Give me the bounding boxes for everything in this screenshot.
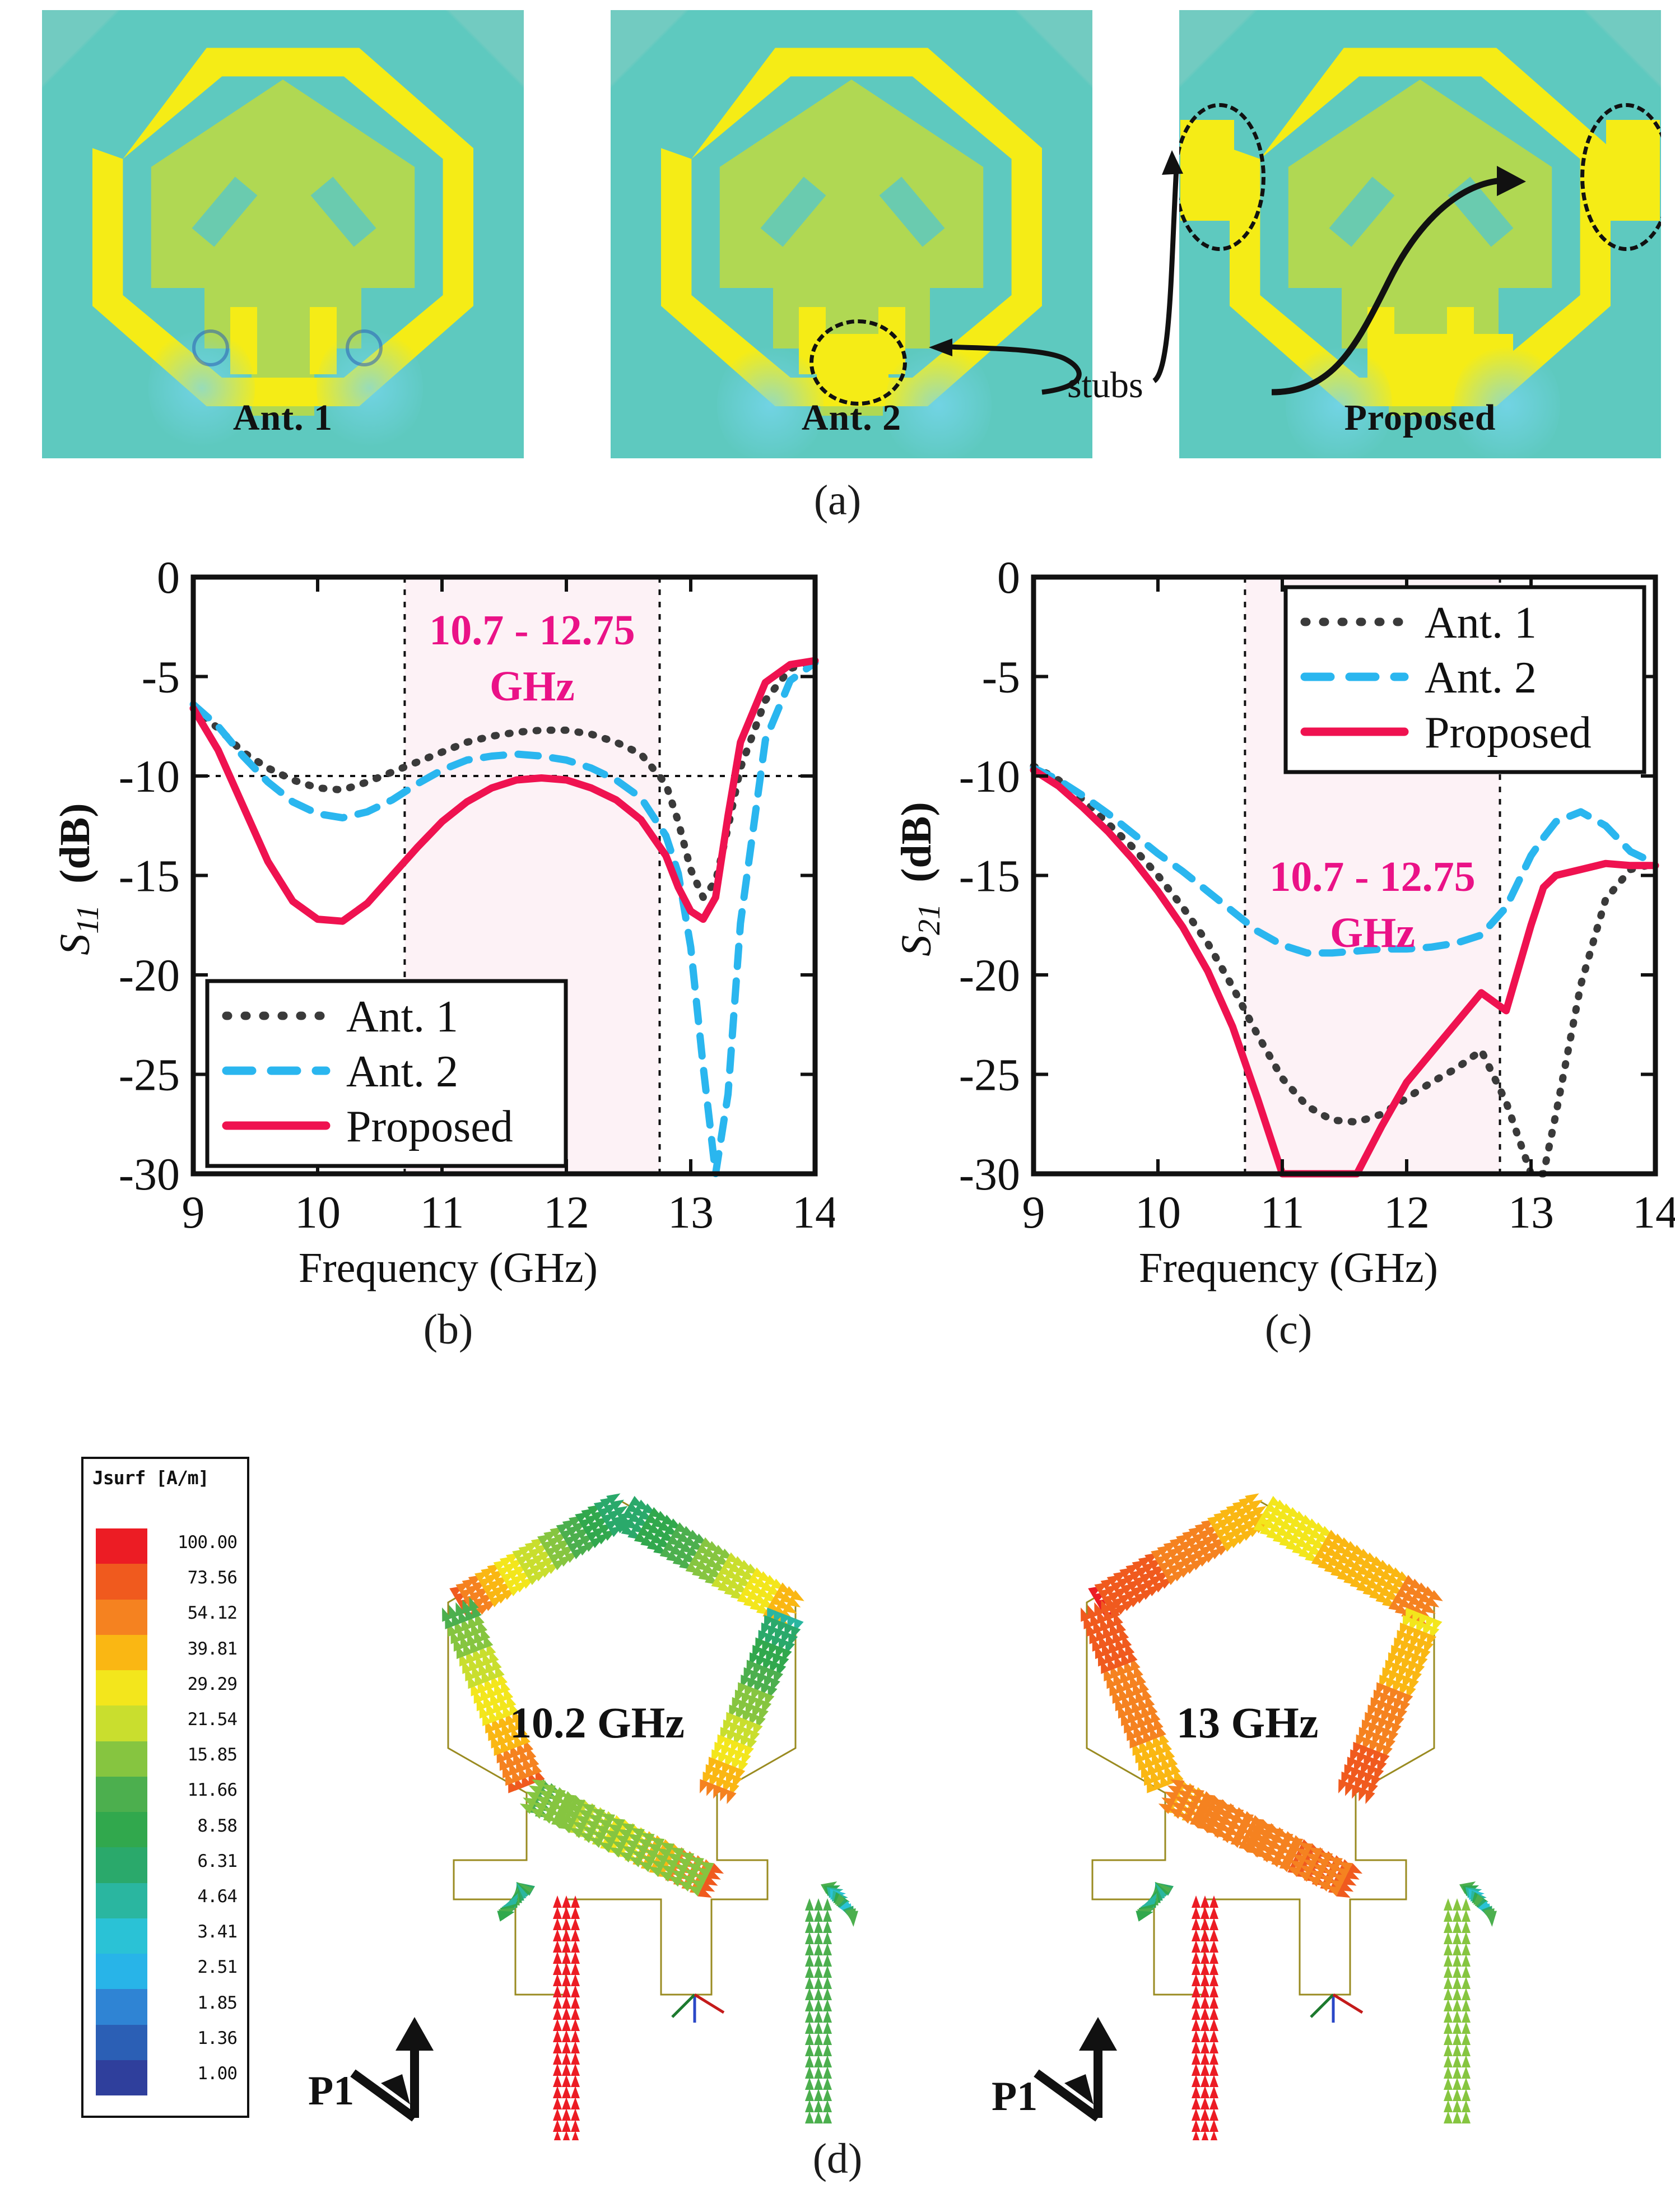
current-arrow-feed-left bbox=[562, 1996, 571, 2009]
current-arrow-feed-left bbox=[562, 1895, 571, 1908]
current-arrow-feed-right bbox=[1462, 2111, 1471, 2123]
colorbar-band-6 bbox=[96, 1741, 147, 1777]
y-tick-label: 0 bbox=[997, 555, 1020, 603]
current-arrow-feed-left bbox=[553, 2131, 562, 2140]
figure-root: Ant. 1 Ant. 2 bbox=[0, 0, 1675, 2212]
current-arrow-feed-left bbox=[571, 1985, 580, 1997]
colorbar-band-9 bbox=[96, 1847, 147, 1883]
via-left bbox=[192, 329, 229, 366]
current-arrow-feed-left bbox=[1209, 2041, 1218, 2053]
colorbar-band-1 bbox=[96, 1564, 147, 1599]
current-arrow-feed-left bbox=[1201, 2007, 1209, 2020]
current-arrow-feed-left bbox=[1192, 2086, 1201, 2098]
current-arrow-feed-right bbox=[1444, 1988, 1453, 2000]
current-arrow-feed-left bbox=[1192, 2052, 1201, 2065]
x-axis-title-s21: Frequency (GHz) bbox=[980, 1244, 1597, 1293]
jsurf-arrow-field bbox=[1076, 1489, 1498, 2140]
colorbar-value: 15.85 bbox=[178, 1737, 237, 1773]
current-arrow-feed-right bbox=[1462, 2089, 1471, 2101]
legend-label-1: Ant. 2 bbox=[346, 1047, 458, 1096]
current-arrow-feed-left bbox=[1201, 2019, 1209, 2031]
current-arrow-feed-right bbox=[1453, 1965, 1462, 1978]
y-tick-label: -5 bbox=[982, 652, 1020, 703]
current-arrow-feed-left bbox=[553, 1951, 562, 1964]
current-arrow-feed-left bbox=[571, 2007, 580, 2020]
stub-highlight-circle bbox=[809, 319, 907, 406]
antenna-label-proposed: Proposed bbox=[1179, 397, 1661, 439]
current-arrow-feed-left bbox=[562, 1907, 571, 1919]
current-arrow-feed-right bbox=[814, 1954, 823, 1967]
current-arrow-feed-left bbox=[562, 1963, 571, 1975]
current-arrow-feed-right bbox=[805, 2033, 814, 2045]
current-arrow-feed-right bbox=[1462, 2100, 1471, 2112]
current-arrow-feed-right bbox=[814, 2010, 823, 2023]
current-arrow-feed-right bbox=[823, 1921, 832, 1933]
axis-triad-x bbox=[695, 1995, 724, 2013]
p1-arrow-up-head bbox=[1079, 2017, 1117, 2051]
current-arrow-feed-right bbox=[805, 1932, 814, 1944]
current-arrow-feed-left bbox=[1192, 1929, 1201, 1941]
current-arrow-feed-left bbox=[571, 2064, 580, 2076]
current-arrow-feed-left bbox=[1209, 1996, 1218, 2009]
current-arrow-feed-left bbox=[562, 2007, 571, 2020]
x-tick-label: 11 bbox=[420, 1187, 464, 1238]
current-arrow-feed-right bbox=[814, 1977, 823, 1989]
y-tick-label: -30 bbox=[119, 1149, 180, 1200]
current-arrow-feed-right bbox=[805, 2100, 814, 2112]
current-arrow-feed-left bbox=[571, 1940, 580, 1953]
current-arrow-feed-right bbox=[805, 2078, 814, 2090]
current-arrow-feed-left bbox=[1209, 2019, 1218, 2031]
chart-s21: 910111213140-5-10-15-20-25-3010.7 - 12.7… bbox=[840, 555, 1675, 1272]
p1-arrow-up-head bbox=[396, 2017, 434, 2051]
current-arrow-feed-right bbox=[814, 2044, 823, 2056]
current-arrow-feed-right bbox=[1462, 1988, 1471, 2000]
current-arrow-feed-left bbox=[1192, 2030, 1201, 2042]
current-arrow-feed-right bbox=[1453, 2089, 1462, 2101]
current-arrow-feed-left bbox=[1192, 2131, 1201, 2140]
jsurf-plot-2 bbox=[941, 1434, 1602, 2140]
current-arrow-feed-right bbox=[1453, 2033, 1462, 2045]
colorbar-value: 100.00 bbox=[178, 1525, 237, 1560]
current-arrow-feed-left bbox=[562, 1951, 571, 1964]
current-arrow-feed-right bbox=[805, 2022, 814, 2034]
current-arrow-feed-left bbox=[553, 1918, 562, 1930]
colorbar-value: 1.85 bbox=[178, 1986, 237, 2021]
antenna-view-proposed: Proposed bbox=[1179, 10, 1661, 458]
chart-legend: Ant. 1Ant. 2Proposed bbox=[207, 981, 566, 1166]
current-arrow-feed-left bbox=[553, 1929, 562, 1941]
current-arrow-feed-right bbox=[1444, 2100, 1453, 2112]
y-tick-label: -10 bbox=[959, 751, 1020, 802]
current-arrow-feed-right bbox=[1462, 1954, 1471, 1967]
current-arrow-feed-left bbox=[553, 2052, 562, 2065]
antenna-view-ant-1: Ant. 1 bbox=[42, 10, 524, 458]
current-arrow-feed-left bbox=[571, 2097, 580, 2109]
current-distribution-13ghz: 13 GHz P1 bbox=[941, 1434, 1602, 2140]
current-arrow-feed-left bbox=[562, 1929, 571, 1941]
colorbar-value: 4.64 bbox=[178, 1879, 237, 1914]
antenna-view-ant-2: Ant. 2 bbox=[611, 10, 1092, 458]
x-axis-title-s11: Frequency (GHz) bbox=[140, 1244, 756, 1293]
current-arrow-feed-left bbox=[1192, 2108, 1201, 2121]
colorbar-band-0 bbox=[96, 1528, 147, 1564]
current-arrow-feed-right bbox=[1453, 1954, 1462, 1967]
colorbar-value: 1.36 bbox=[178, 2021, 237, 2056]
current-arrow-feed-right bbox=[805, 2055, 814, 2067]
current-arrow-feed-right bbox=[1444, 1965, 1453, 1978]
current-arrow-feed-right bbox=[1462, 1943, 1471, 1955]
colorbar-band-12 bbox=[96, 1954, 147, 1989]
current-arrow-feed-left bbox=[571, 1963, 580, 1975]
current-arrow-feed-left bbox=[562, 2120, 571, 2132]
current-arrow-feed-left bbox=[571, 2019, 580, 2031]
current-arrow-feed-left bbox=[1201, 2086, 1209, 2098]
current-arrow-feed-left bbox=[1192, 2075, 1201, 2087]
current-arrow-fan-right bbox=[1486, 1911, 1497, 1927]
current-arrow-feed-left bbox=[571, 1907, 580, 1919]
current-arrow-feed-left bbox=[562, 2086, 571, 2098]
current-arrow-feed-right bbox=[1462, 1977, 1471, 1989]
current-arrow-feed-left bbox=[553, 2007, 562, 2020]
current-arrow-feed-right bbox=[823, 2010, 832, 2023]
x-tick-label: 11 bbox=[1260, 1187, 1305, 1238]
current-arrow-feed-right bbox=[1444, 2066, 1453, 2079]
current-arrow-feed-left bbox=[1209, 1951, 1218, 1964]
colorbar-value: 73.56 bbox=[178, 1560, 237, 1596]
current-arrow-feed-right bbox=[814, 2089, 823, 2101]
chart-legend: Ant. 1Ant. 2Proposed bbox=[1286, 587, 1644, 772]
x-tick-label: 12 bbox=[1384, 1187, 1430, 1238]
current-arrow-feed-left bbox=[1192, 2064, 1201, 2076]
current-arrow-feed-left bbox=[1201, 2064, 1209, 2076]
current-arrow-feed-left bbox=[562, 2030, 571, 2042]
colorbar-band-11 bbox=[96, 1918, 147, 1954]
colorbar-band-3 bbox=[96, 1635, 147, 1670]
current-arrow-feed-left bbox=[1201, 2108, 1209, 2121]
band-label-line1: 10.7 - 12.75 bbox=[429, 607, 635, 654]
current-arrow-feed-left bbox=[1201, 1963, 1209, 1975]
current-distribution-10-2ghz: 10.2 GHz P1 bbox=[303, 1434, 964, 2140]
current-arrow-feed-right bbox=[805, 1999, 814, 2011]
current-arrow-feed-left bbox=[553, 2041, 562, 2053]
jsurf-arrow-field bbox=[438, 1489, 859, 2140]
current-arrow-feed-left bbox=[1192, 1918, 1201, 1930]
current-arrow-feed-right bbox=[1453, 2044, 1462, 2056]
colorbar-band-7 bbox=[96, 1777, 147, 1812]
x-tick-label: 10 bbox=[1135, 1187, 1181, 1238]
current-arrow-feed-left bbox=[1209, 1974, 1218, 1986]
x-tick-label: 14 bbox=[792, 1187, 835, 1238]
current-arrow-feed-left bbox=[1192, 1895, 1201, 1908]
current-arrow-feed-left bbox=[571, 2108, 580, 2121]
current-arrow-feed-right bbox=[1462, 1999, 1471, 2011]
current-arrow-feed-left bbox=[1192, 2019, 1201, 2031]
current-arrow-feed-right bbox=[823, 2066, 832, 2079]
chart-s11: 910111213140-5-10-15-20-25-3010.7 - 12.7… bbox=[0, 555, 835, 1272]
current-arrow-feed-right bbox=[1453, 1988, 1462, 2000]
current-arrow-feed-left bbox=[1192, 1907, 1201, 1919]
current-arrow-feed-right bbox=[1444, 1932, 1453, 1944]
x-tick-label: 9 bbox=[1022, 1187, 1045, 1238]
current-arrow-feed-left bbox=[1201, 1951, 1209, 1964]
current-arrow-feed-right bbox=[1462, 1921, 1471, 1933]
current-arrow-feed-right bbox=[1453, 2100, 1462, 2112]
colorbar-value: 2.51 bbox=[178, 1950, 237, 1985]
current-arrow-feed-left bbox=[1201, 1996, 1209, 2009]
current-arrow-feed-right bbox=[1444, 2044, 1453, 2056]
current-arrow-feed-right bbox=[814, 1909, 823, 1922]
y-tick-label: -20 bbox=[119, 950, 180, 1001]
current-arrow-feed-right bbox=[814, 1943, 823, 1955]
current-arrow-feed-left bbox=[571, 1918, 580, 1930]
current-arrow-feed-right bbox=[805, 2066, 814, 2079]
current-arrow-feed-right bbox=[814, 1898, 823, 1911]
current-arrow-feed-left bbox=[571, 2052, 580, 2065]
colorbar-band-4 bbox=[96, 1670, 147, 1706]
subfigure-label-b: (b) bbox=[392, 1305, 504, 1354]
current-arrow-feed-left bbox=[562, 2075, 571, 2087]
current-arrow-feed-left bbox=[553, 2108, 562, 2121]
y-tick-label: -30 bbox=[959, 1149, 1020, 1200]
current-arrow-feed-left bbox=[553, 1940, 562, 1953]
current-arrow-feed-right bbox=[1462, 1909, 1471, 1922]
current-arrow-feed-left bbox=[571, 2131, 580, 2140]
current-arrow-feed-left bbox=[1209, 2086, 1218, 2098]
colorbar-value: 39.81 bbox=[178, 1632, 237, 1667]
current-arrow-feed-left bbox=[553, 2019, 562, 2031]
current-arrow-feed-right bbox=[1462, 2033, 1471, 2045]
current-arrow-feed-right bbox=[814, 2066, 823, 2079]
y-tick-label: -5 bbox=[142, 652, 180, 703]
current-arrow-feed-right bbox=[1444, 2010, 1453, 2023]
current-arrow-feed-left bbox=[562, 2019, 571, 2031]
legend-label-0: Ant. 1 bbox=[346, 992, 458, 1042]
y-tick-label: -15 bbox=[959, 851, 1020, 901]
current-arrow-feed-right bbox=[814, 1932, 823, 1944]
current-arrow-feed-right bbox=[823, 1943, 832, 1955]
current-arrow-feed-left bbox=[553, 1974, 562, 1986]
current-arrow-feed-right bbox=[814, 2111, 823, 2123]
current-arrow-feed-right bbox=[805, 2089, 814, 2101]
legend-label-0: Ant. 1 bbox=[1425, 598, 1537, 648]
current-arrow-feed-left bbox=[1201, 1895, 1209, 1908]
current-arrow-feed-right bbox=[1444, 2055, 1453, 2067]
current-arrow-feed-left bbox=[553, 1985, 562, 1997]
x-tick-label: 13 bbox=[668, 1187, 714, 1238]
current-arrow-feed-left bbox=[1209, 2108, 1218, 2121]
current-arrow-feed-right bbox=[823, 2055, 832, 2067]
colorbar-value: 8.58 bbox=[178, 1809, 237, 1844]
current-arrow-feed-right bbox=[1453, 1909, 1462, 1922]
current-arrow-feed-right bbox=[814, 2100, 823, 2112]
current-arrow-feed-right bbox=[1444, 2089, 1453, 2101]
current-arrow-feed-left bbox=[1201, 2075, 1209, 2087]
x-tick-label: 9 bbox=[182, 1187, 205, 1238]
current-arrow-feed-left bbox=[1209, 1963, 1218, 1975]
current-arrow-feed-left bbox=[1201, 2120, 1209, 2132]
band-label-line2: GHz bbox=[1330, 909, 1415, 956]
current-arrow-feed-left bbox=[571, 2030, 580, 2042]
current-arrow-feed-left bbox=[571, 1929, 580, 1941]
y-axis-title-s11: S11 (dB) bbox=[51, 761, 106, 997]
current-arrow-feed-left bbox=[1209, 2097, 1218, 2109]
current-arrow-feed-left bbox=[1192, 2007, 1201, 2020]
current-arrow-feed-right bbox=[1453, 1921, 1462, 1933]
current-arrow-feed-right bbox=[1453, 2010, 1462, 2023]
subfigure-label-a: (a) bbox=[781, 476, 894, 525]
current-arrow-feed-right bbox=[805, 1954, 814, 1967]
current-arrow-feed-right bbox=[805, 1921, 814, 1933]
axis-triad-x bbox=[1333, 1995, 1362, 2013]
current-arrow-feed-left bbox=[562, 1918, 571, 1930]
current-arrow-feed-left bbox=[562, 2108, 571, 2121]
x-tick-label: 13 bbox=[1508, 1187, 1554, 1238]
subfigure-label-d: (d) bbox=[781, 2135, 894, 2183]
current-arrow-feed-right bbox=[823, 2100, 832, 2112]
current-arrow-feed-left bbox=[562, 1974, 571, 1986]
colorbar-band-10 bbox=[96, 1883, 147, 1918]
legend-label-2: Proposed bbox=[1425, 708, 1592, 758]
current-arrow-feed-left bbox=[562, 2131, 571, 2140]
current-arrow-feed-left bbox=[1209, 2131, 1218, 2140]
current-arrow-feed-right bbox=[814, 2078, 823, 2090]
colorbar-value: 11.66 bbox=[178, 1773, 237, 1808]
current-arrow-feed-right bbox=[1462, 2010, 1471, 2023]
x-tick-label: 12 bbox=[543, 1187, 589, 1238]
colorbar-band-5 bbox=[96, 1706, 147, 1741]
current-arrow-feed-left bbox=[1192, 2120, 1201, 2132]
y-tick-label: -25 bbox=[959, 1049, 1020, 1100]
current-arrow-feed-right bbox=[1462, 2078, 1471, 2090]
colorbar-value: 1.00 bbox=[178, 2056, 237, 2092]
current-arrow-feed-left bbox=[1209, 1918, 1218, 1930]
colorbar-title: Jsurf [A/m] bbox=[92, 1467, 209, 1489]
current-arrow-feed-right bbox=[814, 1999, 823, 2011]
current-arrow-feed-left bbox=[571, 1996, 580, 2009]
current-arrow-feed-left bbox=[1209, 2120, 1218, 2132]
current-arrow-feed-left bbox=[1201, 2052, 1209, 2065]
current-arrow-feed-left bbox=[562, 2041, 571, 2053]
jsurf-colorbar-legend: Jsurf [A/m] 100.0073.5654.1239.8129.2921… bbox=[81, 1457, 249, 2118]
current-arrow-feed-right bbox=[1444, 1954, 1453, 1967]
chart-s11-svg: 910111213140-5-10-15-20-25-3010.7 - 12.7… bbox=[0, 555, 835, 1272]
port-arrow-p1 bbox=[353, 2017, 434, 2118]
current-arrow-fan-right bbox=[847, 1911, 859, 1927]
current-arrow-feed-left bbox=[562, 2064, 571, 2076]
current-arrow-feed-left bbox=[562, 1985, 571, 1997]
current-arrow-feed-right bbox=[823, 2033, 832, 2045]
current-arrow-feed-left bbox=[553, 1963, 562, 1975]
current-arrow-feed-right bbox=[1462, 2066, 1471, 2079]
current-arrow-feed-left bbox=[1192, 2041, 1201, 2053]
current-arrow-feed-right bbox=[1444, 2111, 1453, 2123]
frequency-label-1: 10.2 GHz bbox=[510, 1698, 685, 1748]
current-arrow-feed-left bbox=[1192, 1985, 1201, 1997]
current-arrow-feed-right bbox=[823, 2089, 832, 2101]
current-arrow-feed-left bbox=[571, 1951, 580, 1964]
current-arrow-feed-left bbox=[1192, 1951, 1201, 1964]
current-arrow-feed-right bbox=[814, 1921, 823, 1933]
y-tick-label: -20 bbox=[959, 950, 1020, 1001]
current-arrow-feed-left bbox=[1201, 1929, 1209, 1941]
current-arrow-feed-left bbox=[1201, 1985, 1209, 1997]
current-arrow-feed-left bbox=[553, 2064, 562, 2076]
current-arrow-feed-right bbox=[1453, 2066, 1462, 2079]
current-arrow-feed-left bbox=[1209, 1929, 1218, 1941]
current-arrow-feed-left bbox=[571, 2120, 580, 2132]
current-arrow-feed-right bbox=[823, 2022, 832, 2034]
current-arrow-feed-left bbox=[1209, 2052, 1218, 2065]
colorbar-value: 6.31 bbox=[178, 1844, 237, 1879]
current-arrow-feed-right bbox=[1444, 1977, 1453, 1989]
colorbar-value-list: 100.0073.5654.1239.8129.2921.5415.8511.6… bbox=[178, 1525, 237, 2092]
current-arrow-feed-right bbox=[814, 2055, 823, 2067]
current-arrow-feed-right bbox=[823, 2044, 832, 2056]
current-arrow-feed-left bbox=[1192, 1963, 1201, 1975]
current-arrow-feed-right bbox=[823, 1909, 832, 1922]
current-arrow-feed-right bbox=[1444, 1921, 1453, 1933]
current-arrow-feed-left bbox=[1209, 2007, 1218, 2020]
current-arrow-feed-right bbox=[1444, 1909, 1453, 1922]
current-arrow-feed-right bbox=[1462, 2055, 1471, 2067]
current-arrow-feed-right bbox=[1453, 1943, 1462, 1955]
current-arrow-feed-right bbox=[805, 1977, 814, 1989]
y-tick-label: -25 bbox=[119, 1049, 180, 1100]
current-arrow-feed-left bbox=[1209, 1940, 1218, 1953]
colorbar-value: 21.54 bbox=[178, 1702, 237, 1737]
y-tick-label: 0 bbox=[157, 555, 180, 603]
colorbar-band-14 bbox=[96, 2025, 147, 2060]
port-label-p1-right: P1 bbox=[992, 2073, 1037, 2121]
current-arrow-feed-left bbox=[571, 1974, 580, 1986]
current-arrow-feed-right bbox=[805, 2044, 814, 2056]
current-arrow-feed-left bbox=[1201, 1907, 1209, 1919]
current-arrow-feed-left bbox=[562, 1940, 571, 1953]
current-arrow-feed-right bbox=[1453, 1898, 1462, 1911]
current-arrow-feed-left bbox=[553, 2120, 562, 2132]
jsurf-plot-1 bbox=[303, 1434, 964, 2140]
colorbar-gradient bbox=[96, 1528, 147, 2095]
current-arrow-feed-left bbox=[553, 2075, 562, 2087]
stubs-annotation-label: stubs bbox=[1067, 364, 1143, 407]
antenna-label-ant-2: Ant. 2 bbox=[611, 397, 1092, 439]
current-arrow-feed-right bbox=[823, 2111, 832, 2123]
current-arrow-feed-right bbox=[1444, 1999, 1453, 2011]
colorbar-band-2 bbox=[96, 1600, 147, 1635]
colorbar-band-13 bbox=[96, 1989, 147, 2024]
port-arrow-p1 bbox=[1036, 2017, 1117, 2118]
current-arrow-feed-left bbox=[1192, 1940, 1201, 1953]
current-arrow-feed-right bbox=[1462, 1965, 1471, 1978]
colorbar-band-15 bbox=[96, 2060, 147, 2095]
current-arrow-feed-right bbox=[823, 1988, 832, 2000]
current-arrow-feed-right bbox=[814, 2022, 823, 2034]
current-arrow-feed-left bbox=[1209, 1985, 1218, 1997]
current-arrow-feed-right bbox=[1453, 2111, 1462, 2123]
current-arrow-feed-right bbox=[823, 1977, 832, 1989]
current-arrow-feed-right bbox=[805, 1898, 814, 1911]
current-arrow-feed-left bbox=[553, 1907, 562, 1919]
axis-triad-y bbox=[1311, 1995, 1333, 2017]
current-arrow-feed-right bbox=[1444, 1943, 1453, 1955]
current-arrow-feed-right bbox=[1444, 2022, 1453, 2034]
current-arrow-feed-right bbox=[1444, 1898, 1453, 1911]
current-arrow-feed-right bbox=[1462, 2044, 1471, 2056]
current-arrow-feed-right bbox=[814, 1965, 823, 1978]
current-arrow-feed-left bbox=[1209, 2030, 1218, 2042]
current-arrow-feed-left bbox=[1209, 1895, 1218, 1908]
